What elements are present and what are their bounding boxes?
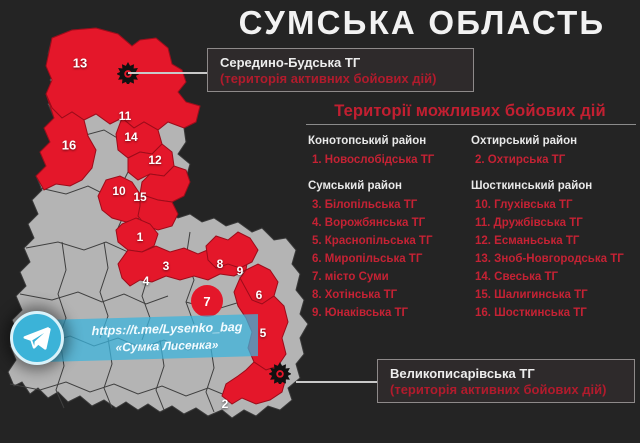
legend-item-5: 5. Краснопільська ТГ xyxy=(308,232,471,250)
map-label-2: 2 xyxy=(222,398,229,410)
legend-district-sumskyi: Сумський район xyxy=(308,177,471,196)
map-label-6: 6 xyxy=(256,289,263,301)
legend-item-3: 3. Білопільська ТГ xyxy=(308,196,471,214)
callout-velykopysarivska: Великописарівська ТГ (територія активних… xyxy=(377,359,635,403)
legend-district-konotopskyi: Конотопський район xyxy=(308,132,471,151)
velykopysarivska-boom-icon xyxy=(269,362,291,384)
legend-divider xyxy=(306,124,636,125)
map-label-9: 9 xyxy=(237,265,244,277)
legend-item-14: 14. Свеська ТГ xyxy=(471,268,640,286)
map-city-badge-sumy: 7 xyxy=(191,285,223,317)
map-label-3: 3 xyxy=(163,260,170,272)
map-label-8: 8 xyxy=(217,258,224,270)
legend-item-7: 7. місто Суми xyxy=(308,268,471,286)
callout-title: Середино-Будська ТГ xyxy=(220,55,463,71)
map-label-1: 1 xyxy=(137,231,144,243)
map-label-12: 12 xyxy=(148,154,161,166)
map-label-14: 14 xyxy=(124,131,137,143)
legend-item-4: 4. Ворожбянська ТГ xyxy=(308,214,471,232)
legend-column-left: Конотопський район 1. Новослобідська ТГ … xyxy=(308,132,471,322)
legend-item-1: 1. Новослобідська ТГ xyxy=(308,151,471,169)
legend-district-okhtyrskyi: Охтирський район xyxy=(471,132,640,151)
legend: Території можливих бойових дій Конотопсь… xyxy=(300,100,640,322)
telegram-icon xyxy=(10,311,64,365)
legend-heading: Території можливих бойових дій xyxy=(300,100,640,122)
callout-leader-line-top xyxy=(128,72,208,74)
legend-item-9: 9. Юнаківська ТГ xyxy=(308,304,471,322)
callout-subtitle: (територія активних бойових дій) xyxy=(220,71,463,87)
legend-item-15: 15. Шалигинська ТГ xyxy=(471,286,640,304)
legend-district-shostkynskyi: Шосткинський район xyxy=(471,177,640,196)
map-label-5: 5 xyxy=(260,327,267,339)
map-label-13: 13 xyxy=(73,57,87,70)
legend-item-6: 6. Миропільська ТГ xyxy=(308,250,471,268)
callout-leader-line-bottom xyxy=(296,381,378,383)
legend-item-16: 16. Шосткинська ТГ xyxy=(471,304,640,322)
map-label-4: 4 xyxy=(143,275,150,287)
watermark-text: https://t.me/Lysenko_bag «Сумка Лисенка» xyxy=(82,319,252,358)
legend-item-11: 11. Дружбівська ТГ xyxy=(471,214,640,232)
map-label-10: 10 xyxy=(112,185,125,197)
callout-title: Великописарівська ТГ xyxy=(390,366,624,382)
callout-seredyno-budska: Середино-Будська ТГ (територія активних … xyxy=(207,48,474,92)
legend-item-8: 8. Хотінська ТГ xyxy=(308,286,471,304)
infographic-root: СУМСЬКА ОБЛАСТЬ .g { fill:#b4b4b4; strok… xyxy=(0,0,640,443)
legend-item-13: 13. Зноб-Новгородська ТГ xyxy=(471,250,640,268)
map-label-15: 15 xyxy=(133,191,146,203)
callout-subtitle: (територія активних бойових дій) xyxy=(390,382,624,398)
legend-column-right: Охтирський район 2. Охтирська ТГ Шосткин… xyxy=(471,132,640,322)
legend-item-10: 10. Глухівська ТГ xyxy=(471,196,640,214)
legend-item-2: 2. Охтирська ТГ xyxy=(471,151,640,169)
map-label-16: 16 xyxy=(62,139,76,152)
legend-item-12: 12. Есманьська ТГ xyxy=(471,232,640,250)
map-label-11: 11 xyxy=(119,110,132,122)
